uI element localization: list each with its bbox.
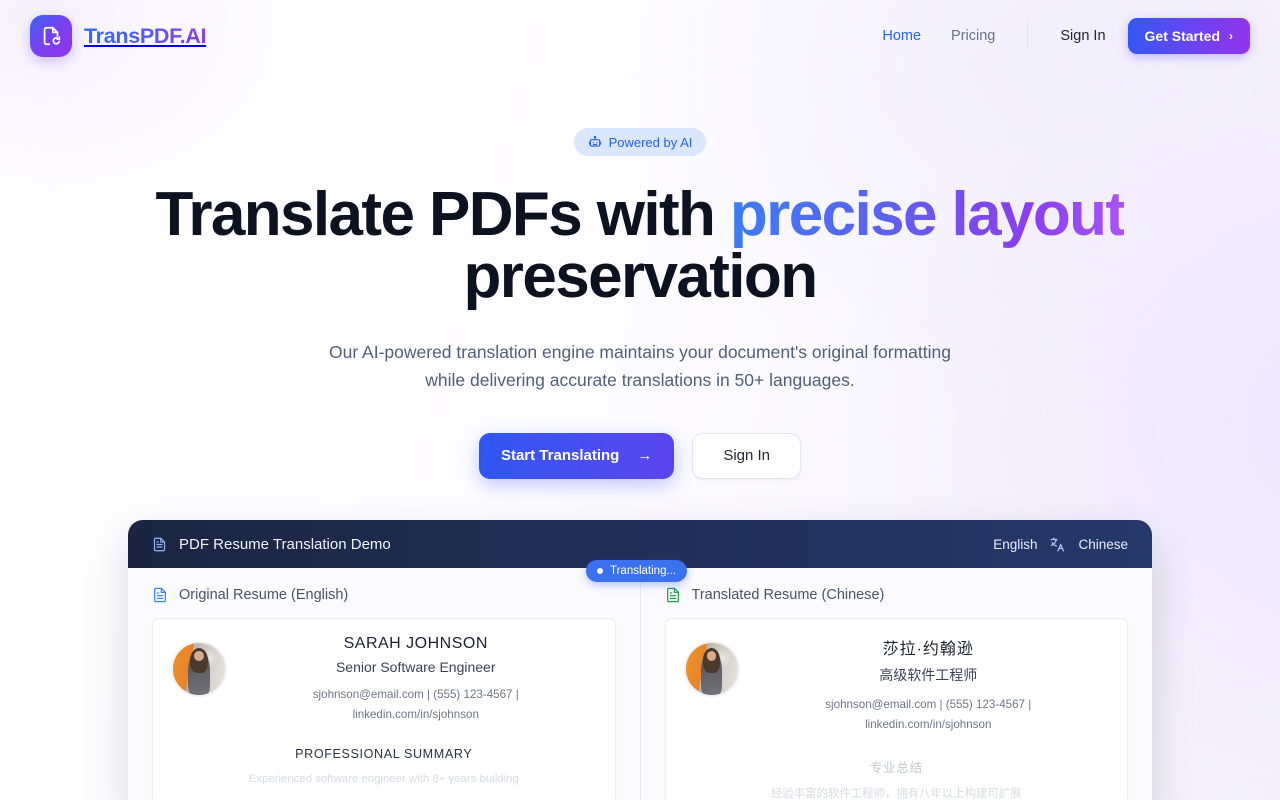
resume-header-row: SARAH JOHNSON Senior Software Engineer s… [171,635,597,725]
nav-item-home[interactable]: Home [882,28,921,44]
nav-item-pricing[interactable]: Pricing [951,28,995,44]
demo-header-title: PDF Resume Translation Demo [179,536,391,553]
nav-signin-link[interactable]: Sign In [1060,28,1105,44]
resume-role: 高级软件工程师 [754,665,1104,685]
resume-identity-block: SARAH JOHNSON Senior Software Engineer s… [241,635,597,725]
resume-section-body: 经验丰富的软件工程师，拥有八年以上构建可扩展 [684,785,1110,800]
avatar [684,641,740,697]
robot-icon [588,135,602,149]
start-translating-label: Start Translating [501,447,619,464]
original-resume-document: SARAH JOHNSON Senior Software Engineer s… [152,618,616,800]
chevron-right-icon: › [1229,30,1233,42]
resume-contact-line-1: sjohnson@email.com | (555) 123-4567 | [825,698,1031,711]
nav-divider [1027,23,1028,49]
brand-name: TransPDF.AI [84,24,206,49]
status-badge-label: Translating... [610,565,676,577]
arrow-right-icon: → [637,447,652,464]
source-language-label: English [993,537,1037,552]
status-badge: Translating... [586,560,687,582]
headline-part-2: preservation [464,242,817,311]
translate-icon [1049,536,1066,553]
get-started-label: Get Started [1145,28,1220,44]
language-pair[interactable]: English Chinese [993,536,1128,553]
demo-panes: Original Resume (English) SARAH JOHNSON … [128,568,1152,800]
headline-gradient-text: precise layout [730,180,1125,249]
resume-contact-line-2: linkedin.com/in/sjohnson [865,718,991,731]
headline-part-1: Translate PDFs with [156,180,730,249]
translated-pane-title: Translated Resume (Chinese) [692,587,885,603]
translated-resume-pane: Translated Resume (Chinese) 莎拉·约翰逊 高级软件工… [641,568,1153,800]
resume-section-heading: PROFESSIONAL SUMMARY [171,747,597,761]
resume-contact: sjohnson@email.com | (555) 123-4567 | li… [241,685,591,725]
powered-by-ai-label: Powered by AI [609,135,693,150]
demo-card: PDF Resume Translation Demo English Chin… [128,520,1152,800]
original-pane-title: Original Resume (English) [179,587,348,603]
resume-contact-line-2: linkedin.com/in/sjohnson [353,708,479,721]
status-dot-icon [597,568,603,574]
nav-right-group: Home Pricing Sign In Get Started › [882,18,1250,54]
hero-cta-row: Start Translating → Sign In [0,433,1280,479]
start-translating-button[interactable]: Start Translating → [479,433,674,479]
document-icon [152,536,167,553]
resume-contact-line-1: sjohnson@email.com | (555) 123-4567 | [313,688,519,701]
page-title: Translate PDFs with precise layout prese… [0,184,1280,308]
resume-contact: sjohnson@email.com | (555) 123-4567 | li… [754,695,1104,735]
demo-header-title-group: PDF Resume Translation Demo [152,536,391,553]
resume-name: 莎拉·约翰逊 [754,635,1104,659]
resume-identity-block: 莎拉·约翰逊 高级软件工程师 sjohnson@email.com | (555… [754,635,1110,735]
original-pane-header: Original Resume (English) [152,586,616,604]
resume-role: Senior Software Engineer [241,659,591,675]
hero-signin-button[interactable]: Sign In [692,433,801,479]
original-resume-pane: Original Resume (English) SARAH JOHNSON … [128,568,641,800]
navbar: TransPDF.AI Home Pricing Sign In Get Sta… [0,0,1280,72]
avatar [171,641,227,697]
document-sync-icon [30,15,72,57]
nav-links: Home Pricing [882,28,995,44]
target-language-label: Chinese [1078,537,1128,552]
resume-section-body: Experienced software engineer with 8+ ye… [171,770,597,789]
document-blue-icon [152,586,168,604]
brand-logo-link[interactable]: TransPDF.AI [30,15,206,57]
powered-by-ai-badge: Powered by AI [574,128,707,156]
resume-name: SARAH JOHNSON [241,635,591,653]
resume-header-row: 莎拉·约翰逊 高级软件工程师 sjohnson@email.com | (555… [684,635,1110,735]
demo-card-wrapper: PDF Resume Translation Demo English Chin… [128,520,1152,800]
translated-pane-header: Translated Resume (Chinese) [665,586,1129,604]
translated-resume-document: 莎拉·约翰逊 高级软件工程师 sjohnson@email.com | (555… [665,618,1129,800]
document-green-icon [665,586,681,604]
get-started-button[interactable]: Get Started › [1128,18,1250,54]
hero-subheadline: Our AI-powered translation engine mainta… [320,338,960,395]
hero-section: Powered by AI Translate PDFs with precis… [0,72,1280,479]
demo-header: PDF Resume Translation Demo English Chin… [128,520,1152,568]
resume-section-heading: 专业总结 [684,757,1110,776]
